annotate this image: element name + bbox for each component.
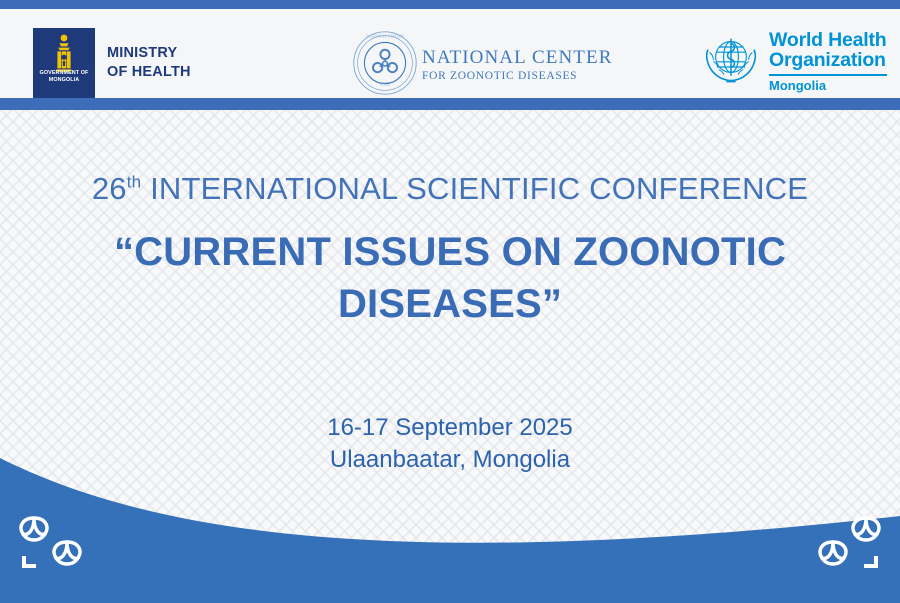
ministry-of-health-logo: GOVERNMENT OF MONGOLIA MINISTRY OF HEALT…	[33, 28, 191, 98]
conference-edition-text: INTERNATIONAL SCIENTIFIC CONFERENCE	[141, 171, 808, 206]
center-name: NATIONAL CENTER FOR ZOONOTIC DISEASES	[422, 48, 612, 83]
conference-ordinal-suffix: th	[127, 173, 142, 192]
emblem-caption: GOVERNMENT OF MONGOLIA	[33, 70, 95, 84]
conference-edition-line: 26th INTERNATIONAL SCIENTIFIC CONFERENCE	[0, 170, 900, 208]
biohazard-seal-icon: 1951 NATIONAL CENTER	[352, 30, 418, 101]
header-accent-bar	[0, 98, 900, 110]
who-logo: World Health Organization Mongolia	[700, 28, 887, 95]
bottom-wave-decoration	[0, 458, 900, 603]
who-emblem-icon	[700, 28, 762, 95]
svg-text:NATIONAL CENTER: NATIONAL CENTER	[366, 33, 404, 38]
ministry-name: MINISTRY OF HEALTH	[107, 44, 191, 82]
seal-year: 1951	[380, 83, 391, 88]
who-divider	[769, 74, 887, 76]
event-dates: 16-17 September 2025	[0, 412, 900, 444]
national-center-zoonotic-diseases-logo: 1951 NATIONAL CENTER NATIONAL CENTER FOR…	[352, 30, 612, 101]
conference-title-slide: GOVERNMENT OF MONGOLIA MINISTRY OF HEALT…	[0, 0, 900, 603]
title-block: 26th INTERNATIONAL SCIENTIFIC CONFERENCE…	[0, 170, 900, 330]
mongolian-knot-ornament-left	[14, 504, 98, 581]
wave-fill	[0, 458, 900, 603]
who-name: World Health Organization Mongolia	[769, 30, 887, 93]
mongolian-knot-ornament-right	[802, 504, 886, 581]
conference-title: “CURRENT ISSUES ON ZOONOTIC DISEASES”	[0, 226, 900, 330]
top-accent-bar	[0, 0, 900, 9]
mongolia-state-emblem: GOVERNMENT OF MONGOLIA	[33, 28, 95, 98]
conference-number: 26	[92, 171, 127, 206]
logo-header-band: GOVERNMENT OF MONGOLIA MINISTRY OF HEALT…	[0, 9, 900, 98]
